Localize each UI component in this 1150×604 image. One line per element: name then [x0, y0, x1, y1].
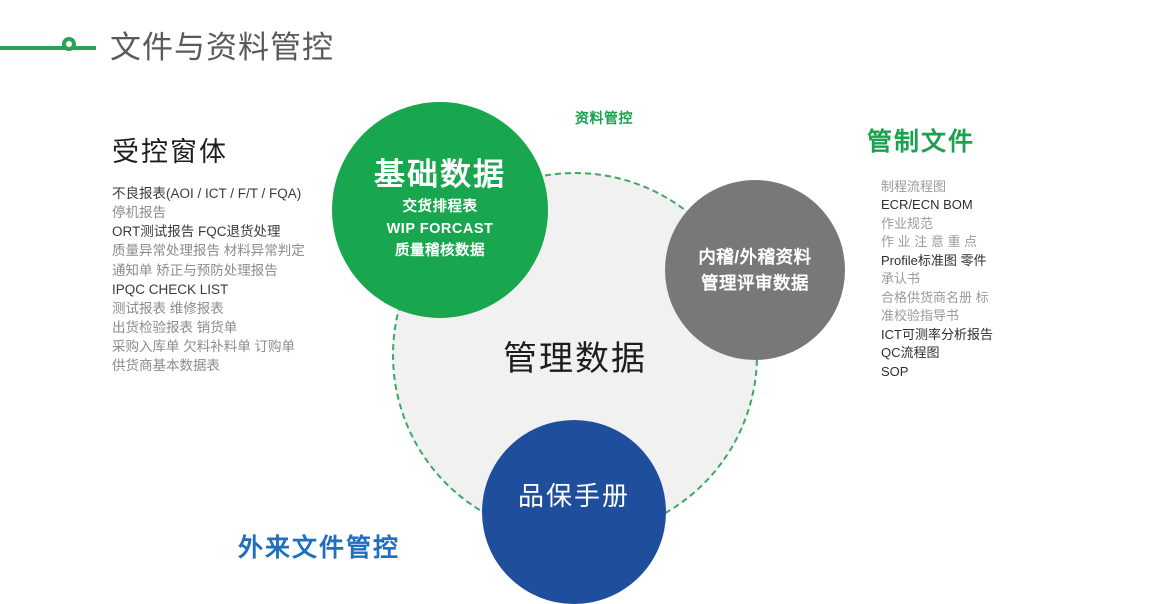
right-column-list-item: 准校验指导书: [881, 307, 993, 325]
right-column-list-item: Profile标准图 零件: [881, 252, 993, 270]
node-circle-green[interactable]: 基础数据 交货排程表 WIP FORCAST 质量稽核数据: [332, 102, 548, 318]
header-accent-circle-icon: [62, 37, 76, 51]
right-column-list-item: QC流程图: [881, 344, 993, 362]
right-column-list-item: 承认书: [881, 270, 993, 288]
node-green-items: 交货排程表 WIP FORCAST 质量稽核数据: [387, 196, 494, 262]
node-circle-blue[interactable]: 品保手册: [482, 420, 666, 604]
node-green-item: WIP FORCAST: [387, 218, 494, 240]
left-column-list-item: 不良报表(AOI / ICT / F/T / FQA): [112, 184, 305, 203]
page-title: 文件与资料管控: [110, 22, 334, 67]
hub-label: 管理数据: [503, 331, 647, 380]
right-column-list-item: 合格供货商名册 标: [881, 289, 993, 307]
node-gray-line: 内稽/外稽资料: [698, 244, 811, 270]
left-column-list: 不良报表(AOI / ICT / F/T / FQA)停机报告ORT测试报告 F…: [112, 184, 305, 376]
left-column-list-item: 通知单 矫正与预防处理报告: [112, 261, 305, 280]
node-gray-line: 管理评审数据: [698, 270, 811, 296]
right-column-list-item: ICT可测率分析报告: [881, 326, 993, 344]
node-gray-text: 内稽/外稽资料 管理评审数据: [698, 244, 811, 297]
right-column-list-item: 制程流程图: [881, 178, 993, 196]
slide-canvas: 文件与资料管控 管理数据 资料管控 基础数据 交货排程表 WIP FORCAST…: [0, 0, 1150, 593]
node-circle-gray[interactable]: 内稽/外稽资料 管理评审数据: [665, 180, 845, 360]
left-column-list-item: 测试报表 维修报表: [112, 299, 305, 318]
bottom-label: 外来文件管控: [238, 528, 400, 564]
right-column-list-item: SOP: [881, 363, 993, 381]
node-green-item: 交货排程表: [387, 196, 494, 218]
right-column-heading: 管制文件: [867, 122, 975, 158]
diagram-top-label: 资料管控: [575, 108, 633, 128]
left-column-list-item: 供货商基本数据表: [112, 356, 305, 375]
left-column-heading: 受控窗体: [112, 130, 228, 169]
left-column-list-item: 质量异常处理报告 材料异常判定: [112, 241, 305, 260]
right-column-list-item: ECR/ECN BOM: [881, 196, 993, 214]
right-column-list: 制程流程图ECR/ECN BOM作业规范作 业 注 意 重 点Profile标准…: [881, 178, 993, 381]
right-column-list-item: 作业规范: [881, 215, 993, 233]
header-accent-line: [0, 46, 96, 50]
left-column-list-item: 出货检验报表 销货单: [112, 318, 305, 337]
left-column-list-item: IPQC CHECK LIST: [112, 280, 305, 299]
node-green-title: 基础数据: [374, 158, 506, 194]
node-blue-title: 品保手册: [518, 476, 630, 513]
left-column-list-item: 采购入库单 欠料补料单 订购单: [112, 337, 305, 356]
node-green-item: 质量稽核数据: [387, 240, 494, 262]
right-column-list-item: 作 业 注 意 重 点: [881, 233, 993, 251]
left-column-list-item: 停机报告: [112, 203, 305, 222]
left-column-list-item: ORT测试报告 FQC退货处理: [112, 222, 305, 241]
